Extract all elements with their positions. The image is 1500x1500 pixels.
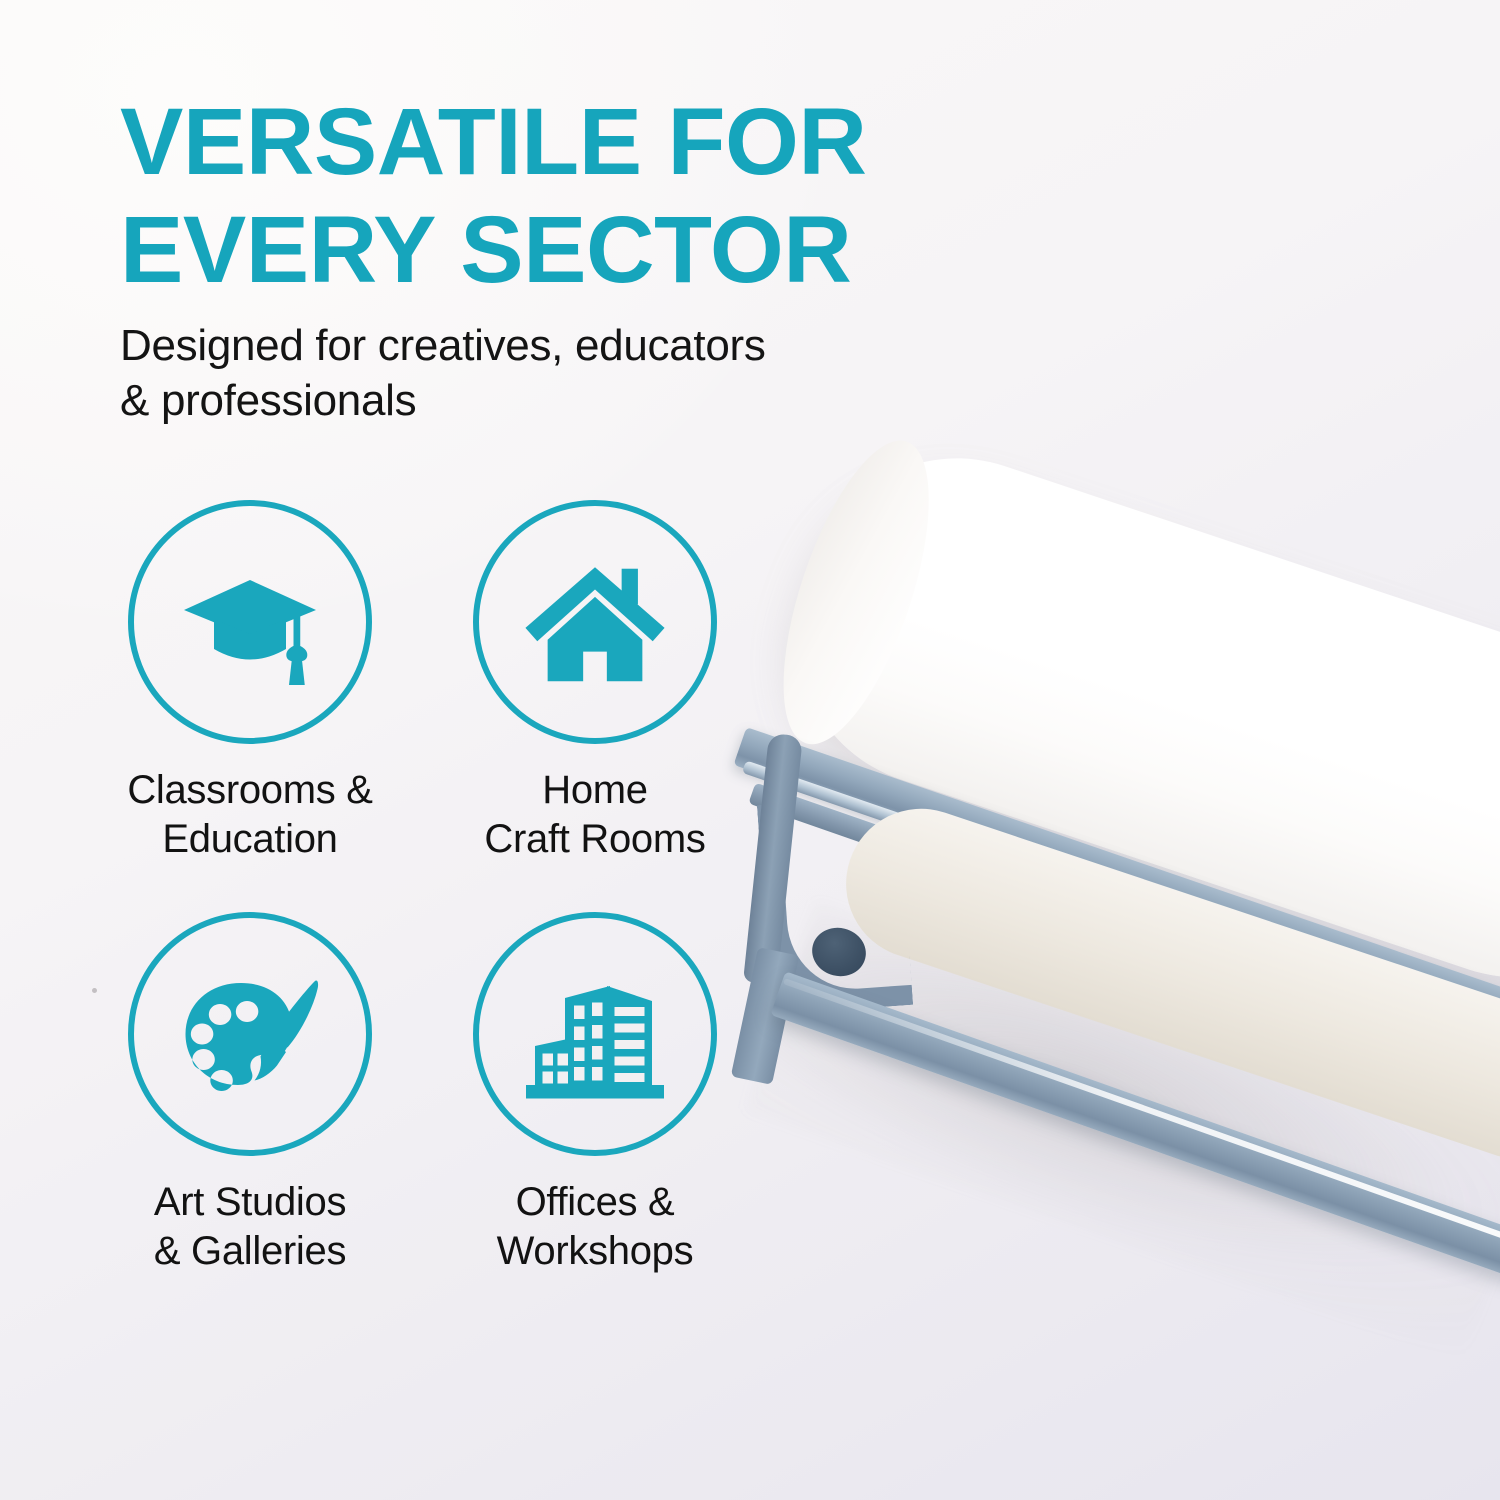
page-title: Versatile for every sector: [120, 88, 900, 304]
icon-circle-classrooms: [128, 500, 372, 744]
icon-circle-offices: [473, 912, 717, 1156]
background-speck: [92, 988, 97, 993]
feature-grid: Classrooms & Education Home Craft Rooms: [105, 500, 745, 1276]
feature-label-classrooms: Classrooms & Education: [127, 766, 372, 864]
home-icon: [521, 548, 669, 696]
office-building-icon: [520, 959, 670, 1109]
feature-item-offices: Offices & Workshops: [450, 912, 740, 1276]
feature-item-home: Home Craft Rooms: [450, 500, 740, 864]
feature-item-classrooms: Classrooms & Education: [105, 500, 395, 864]
feature-item-art: Art Studios & Galleries: [105, 912, 395, 1276]
icon-circle-art: [128, 912, 372, 1156]
product-photo: [700, 330, 1500, 1410]
feature-label-art: Art Studios & Galleries: [154, 1178, 346, 1276]
graduation-cap-icon: [175, 547, 325, 697]
feature-label-offices: Offices & Workshops: [497, 1178, 694, 1276]
icon-circle-home: [473, 500, 717, 744]
poster-canvas: Versatile for every sector Designed for …: [0, 0, 1500, 1500]
art-palette-icon: [175, 959, 325, 1109]
feature-label-home: Home Craft Rooms: [484, 766, 705, 864]
